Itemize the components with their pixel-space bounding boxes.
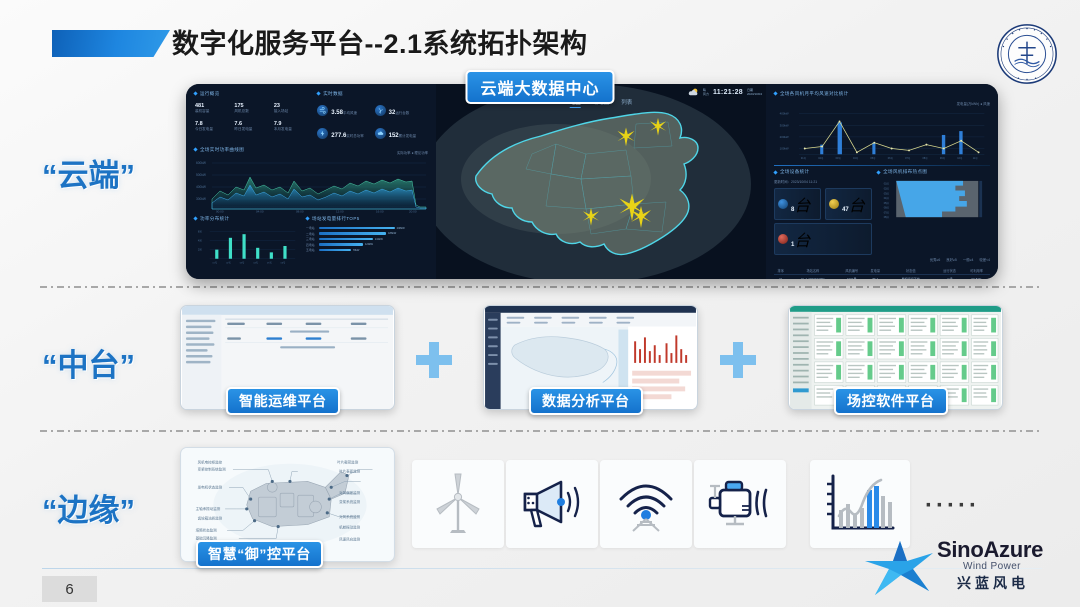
rank-name: 一场站: [306, 226, 317, 230]
stat-label: 运行台数: [395, 111, 409, 115]
weather-icon: [688, 87, 699, 98]
kpi-label: 昨日发电量: [234, 127, 269, 132]
power-curve-title: 全场实时功率曲线图: [194, 147, 244, 153]
rank-name: 二场站: [306, 232, 317, 236]
rank-value: 142kW: [375, 238, 383, 241]
svg-text:01号: 01号: [212, 260, 217, 264]
plus-separator-2: [716, 338, 760, 382]
svg-text:600: 600: [198, 230, 203, 233]
svg-text:塔筒状态监测: 塔筒状态监测: [196, 528, 218, 533]
stat-value: 277.6: [331, 133, 346, 139]
title-accent-flag: [52, 30, 170, 57]
svg-text:300kW: 300kW: [780, 123, 789, 127]
svg-text:00:00: 00:00: [216, 210, 224, 214]
fault-icon: [778, 234, 788, 244]
stat-value: 3.58: [331, 110, 343, 116]
stat-item: 32运行台数: [375, 101, 428, 119]
clock-date: 日期2023/10/04: [747, 89, 762, 97]
brand-name: SinoAzure: [937, 537, 1043, 563]
svg-text:03号: 03号: [240, 260, 245, 264]
kpi-item: 175 风机总数: [233, 101, 270, 116]
wind-turbine-icon-tile[interactable]: [412, 460, 504, 548]
status-title: 全场设备统计: [774, 169, 872, 175]
brand-logo: SinoAzure Wind Power 兴蓝风电: [859, 535, 1064, 597]
status-card: 8台: [774, 188, 821, 220]
stat-item: 152累计发电量: [375, 124, 428, 142]
kpi-item: 23 接入场站: [273, 101, 310, 116]
right-dashboard: 全场各风机月平均风速对比统计 发电量(万kWh) ● 风速 400kW300kW…: [766, 84, 998, 279]
rank-value: 186kW: [388, 232, 396, 235]
status-card: 1台: [774, 223, 872, 255]
page-number: 6: [42, 576, 97, 602]
svg-text:06排: 06排: [884, 206, 890, 210]
status-value: 47: [842, 207, 849, 213]
kpi-label: 装机容量: [195, 109, 230, 114]
power-curve-chart: 全场实时功率曲线图 实际功率 ● 理论功率 600kW500kW 400kW30…: [194, 147, 428, 213]
legend-item: 较差<4: [979, 257, 990, 262]
stat-label: 累计发电量: [399, 134, 417, 138]
status-card-row: 8台 47台: [774, 188, 872, 220]
turbine-icon: [375, 105, 386, 116]
row-label-cloud: “云端”: [42, 150, 182, 195]
svg-text:03号: 03号: [836, 156, 842, 160]
weather-label: 晴风力: [703, 89, 709, 97]
rank-value: 120kW: [365, 243, 373, 246]
left-section-1-title: 运行概览: [194, 91, 310, 97]
svg-text:05号: 05号: [870, 156, 876, 160]
kpi-item: 7.8 今日发电量: [194, 119, 231, 134]
svg-text:400kW: 400kW: [780, 112, 789, 116]
svg-text:02号: 02号: [818, 156, 824, 160]
svg-text:主轴承振动监测: 主轴承振动监测: [196, 506, 221, 511]
device-table: 排序 场站名称 风机编号 发电量 状态值 运行状态 可利用率 01 XL-1-2…: [774, 266, 990, 279]
stat-item: 277.6实时总功率: [317, 124, 370, 142]
svg-text:对风系统监测: 对风系统监测: [339, 514, 361, 519]
left-section-2-title: 实时数据: [317, 91, 428, 97]
svg-text:06号: 06号: [281, 260, 286, 264]
table-header: 排序: [774, 266, 787, 275]
svg-text:变桨控制系统监测: 变桨控制系统监测: [198, 467, 227, 472]
right-combo-chart-svg: 400kW300kW 200kW100kW 01号02号03号 04号05号06…: [774, 106, 990, 162]
heatmap-svg: 01排02排03排 04排05排06排 07排08排: [877, 179, 990, 221]
farm-control-badge: 场控软件平台: [834, 387, 948, 415]
table-header: 运行状态: [936, 266, 963, 275]
heatmap-title: 全场风机排布热点图: [877, 169, 990, 175]
cloud-icon: [375, 128, 386, 139]
china-map-svg: [436, 84, 766, 279]
table-header: 发电量: [865, 266, 885, 275]
wind-icon: [317, 105, 328, 116]
svg-text:05排: 05排: [884, 201, 890, 205]
table-header-row: 排序 场站名称 风机编号 发电量 状态值 运行状态 可利用率: [774, 266, 990, 275]
bar-chart-title: 功率分布统计: [194, 216, 300, 222]
stat-value: 152: [389, 133, 399, 139]
power-curve-legend: 实际功率 ● 理论功率: [397, 150, 428, 155]
plus-separator-1: [412, 338, 456, 382]
rank-name: 四场站: [306, 243, 317, 247]
clock-time: 11:21:28: [713, 89, 743, 96]
svg-text:03排: 03排: [884, 191, 890, 195]
status-sub: 更新时间：2023/10/04 11:21: [774, 179, 872, 184]
power-curve-svg: 600kW500kW 400kW300kW 00:0004:: [194, 157, 428, 213]
legend-item: 良好≥5: [946, 257, 957, 262]
svg-text:发电机状态监测: 发电机状态监测: [198, 484, 223, 489]
page-title: 数字化服务平台--2.1系统拓扑架构: [172, 22, 588, 61]
svg-text:叶片表面监测: 叶片表面监测: [339, 469, 361, 474]
brand-name-cn: 兴蓝风电: [957, 573, 1029, 593]
svg-text:20:00: 20:00: [409, 210, 417, 214]
svg-text:12:00: 12:00: [336, 210, 344, 214]
svg-text:01排: 01排: [884, 182, 890, 186]
svg-text:02排: 02排: [884, 187, 890, 191]
kpi-label: 接入场站: [274, 109, 309, 114]
svg-text:机舱振动监测: 机舱振动监测: [339, 525, 361, 530]
brand-subtitle: Wind Power: [963, 561, 1021, 572]
svg-text:16:00: 16:00: [376, 210, 384, 214]
wifi-tower-icon: [615, 475, 677, 533]
edge-ellipsis: ·····: [925, 492, 980, 520]
megaphone-icon-tile[interactable]: [506, 460, 598, 548]
row-label-edge: “边缘”: [42, 485, 182, 530]
kpi-grid: 481 装机容量 175 风机总数 23 接入场站 7.8 今日发电量: [194, 101, 310, 134]
analysis-platform-badge: 数据分析平台: [529, 387, 643, 415]
svg-text:400kW: 400kW: [196, 185, 206, 189]
left-dashboard: 运行概览 481 装机容量 175 风机总数 23 接入场站: [186, 84, 436, 279]
kpi-item: 7.9 本月发电量: [273, 119, 310, 134]
svg-text:08:00: 08:00: [296, 210, 304, 214]
svg-text:10号: 10号: [957, 156, 963, 160]
svg-text:500kW: 500kW: [196, 173, 206, 177]
wifi-tower-icon-tile[interactable]: [600, 460, 692, 548]
svg-text:02号: 02号: [226, 260, 231, 264]
svg-text:08排: 08排: [884, 215, 890, 219]
map-tab-list[interactable]: 列表: [621, 98, 632, 108]
table-row: 01 XL-1-2023104001 1001号 86.4 整机运行正常 二级 …: [774, 275, 990, 279]
legend-item: 一般≥4: [963, 257, 974, 262]
rank-name: 三场站: [306, 237, 317, 241]
svg-text:11号: 11号: [973, 156, 978, 160]
stat-label: 实时总功率: [346, 134, 364, 138]
legend-item: 优秀≥6: [930, 257, 941, 262]
stat-item: 3.58平均风速: [317, 101, 370, 119]
row-label-middle: “中台”: [42, 340, 182, 385]
rank-list: 一场站 208kW 二场站 186kW 三场站 142kW: [306, 226, 428, 252]
running-icon: [829, 199, 839, 209]
kpi-label: 风机总数: [234, 109, 269, 114]
china-map-view[interactable]: 地图 场站图 列表 晴风力 11:21:28 日期2023/10/04: [436, 84, 766, 279]
svg-text:400: 400: [198, 239, 203, 242]
table-header: 场站名称: [787, 266, 838, 275]
standby-icon: [778, 199, 788, 209]
om-platform-badge: 智能运维平台: [226, 387, 340, 415]
svg-text:齿轮箱油质监测: 齿轮箱油质监测: [198, 516, 223, 521]
svg-text:200: 200: [198, 249, 203, 252]
kpi-label: 今日发电量: [195, 127, 230, 132]
star-logo-icon: [863, 539, 937, 597]
svg-text:04排: 04排: [884, 196, 890, 200]
table-header: 风机编号: [838, 266, 865, 275]
rank-value: 78kW: [353, 249, 360, 252]
svg-text:600kW: 600kW: [196, 161, 206, 165]
table-header: 可利用率: [963, 266, 990, 275]
motor-vibration-icon: [704, 476, 776, 532]
bar-chart-svg: 600400200 01号02号03号 04号05号06号: [194, 226, 300, 266]
wind-turbine-icon: [431, 471, 485, 537]
rank-value: 208kW: [397, 227, 405, 230]
status-card: 47台: [825, 188, 872, 220]
svg-text:风机电控柜监控: 风机电控柜监控: [198, 460, 223, 465]
svg-text:04号: 04号: [253, 260, 258, 264]
kpi-label: 本月发电量: [274, 127, 309, 132]
power-icon: [317, 128, 328, 139]
divider-cloud-middle: [40, 286, 1040, 288]
svg-text:07号: 07号: [905, 156, 911, 160]
map-status-bar: 晴风力 11:21:28 日期2023/10/04: [688, 87, 762, 98]
svg-text:05号: 05号: [267, 260, 272, 264]
right-chart-title: 全场各风机月平均风速对比统计: [774, 91, 990, 97]
svg-text:07排: 07排: [884, 211, 890, 215]
slide-header: 数字化服务平台--2.1系统拓扑架构: [0, 18, 1080, 70]
svg-text:100kW: 100kW: [780, 146, 789, 150]
cloud-dashboard-panel: 运行概览 481 装机容量 175 风机总数 23 接入场站: [186, 84, 998, 279]
svg-text:300kW: 300kW: [196, 197, 206, 201]
svg-text:06号: 06号: [888, 156, 894, 160]
svg-text:04号: 04号: [853, 156, 859, 160]
table-header: 状态值: [885, 266, 936, 275]
kpi-item: 7.6 昨日发电量: [233, 119, 270, 134]
divider-middle-edge: [40, 430, 1040, 432]
motor-vibration-icon-tile[interactable]: [694, 460, 786, 548]
stat-label: 平均风速: [343, 111, 357, 115]
rank-title: 场站发电量排行TOP5: [306, 216, 428, 222]
svg-text:01号: 01号: [801, 156, 807, 160]
stat-grid: 3.58平均风速 32运行台数 277.6实时总功率 152累计发电量: [317, 101, 428, 142]
svg-text:风速风向监测: 风速风向监测: [339, 536, 361, 541]
nacelle-platform-badge: 智慧“御”控平台: [196, 540, 323, 568]
svg-text:变桨系统监测: 变桨系统监测: [339, 499, 361, 504]
kpi-item: 481 装机容量: [194, 101, 231, 116]
cloud-center-badge: 云端大数据中心: [465, 70, 614, 104]
megaphone-icon: [521, 478, 583, 530]
svg-text:200kW: 200kW: [780, 135, 789, 139]
institution-seal-icon: [996, 23, 1058, 85]
rank-name: 五场站: [306, 248, 317, 252]
svg-text:08号: 08号: [923, 156, 929, 160]
analytics-chart-icon: [823, 472, 897, 536]
svg-text:叶片载荷监测: 叶片载荷监测: [337, 460, 359, 465]
svg-text:04:00: 04:00: [256, 210, 264, 214]
svg-text:09号: 09号: [940, 156, 946, 160]
svg-text:对风偏差监测: 对风偏差监测: [339, 490, 361, 495]
